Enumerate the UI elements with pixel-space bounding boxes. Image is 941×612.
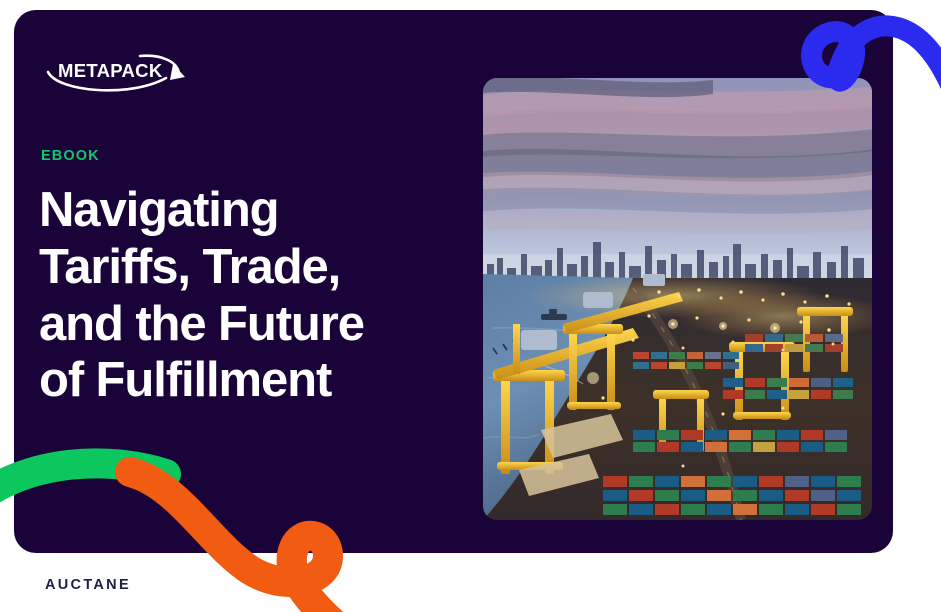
shipping-port-aerial-photo	[483, 78, 872, 520]
page-title: Navigating Tariffs, Trade, and the Futur…	[39, 182, 459, 409]
headline-line-2: Tariffs, Trade,	[39, 239, 459, 296]
eyebrow-label: EBOOK	[41, 149, 100, 164]
ebook-cover: METAPACK EBOOK Navigating Tariffs, Trade…	[0, 0, 941, 612]
headline-line-3: and the Future	[39, 296, 459, 353]
metapack-logo-text: METAPACK	[58, 60, 163, 81]
headline-line-4: of Fulfillment	[39, 352, 459, 409]
metapack-logo: METAPACK	[44, 50, 194, 96]
headline-line-1: Navigating	[39, 182, 459, 239]
auctane-logo-text: AUCTANE	[45, 578, 131, 593]
